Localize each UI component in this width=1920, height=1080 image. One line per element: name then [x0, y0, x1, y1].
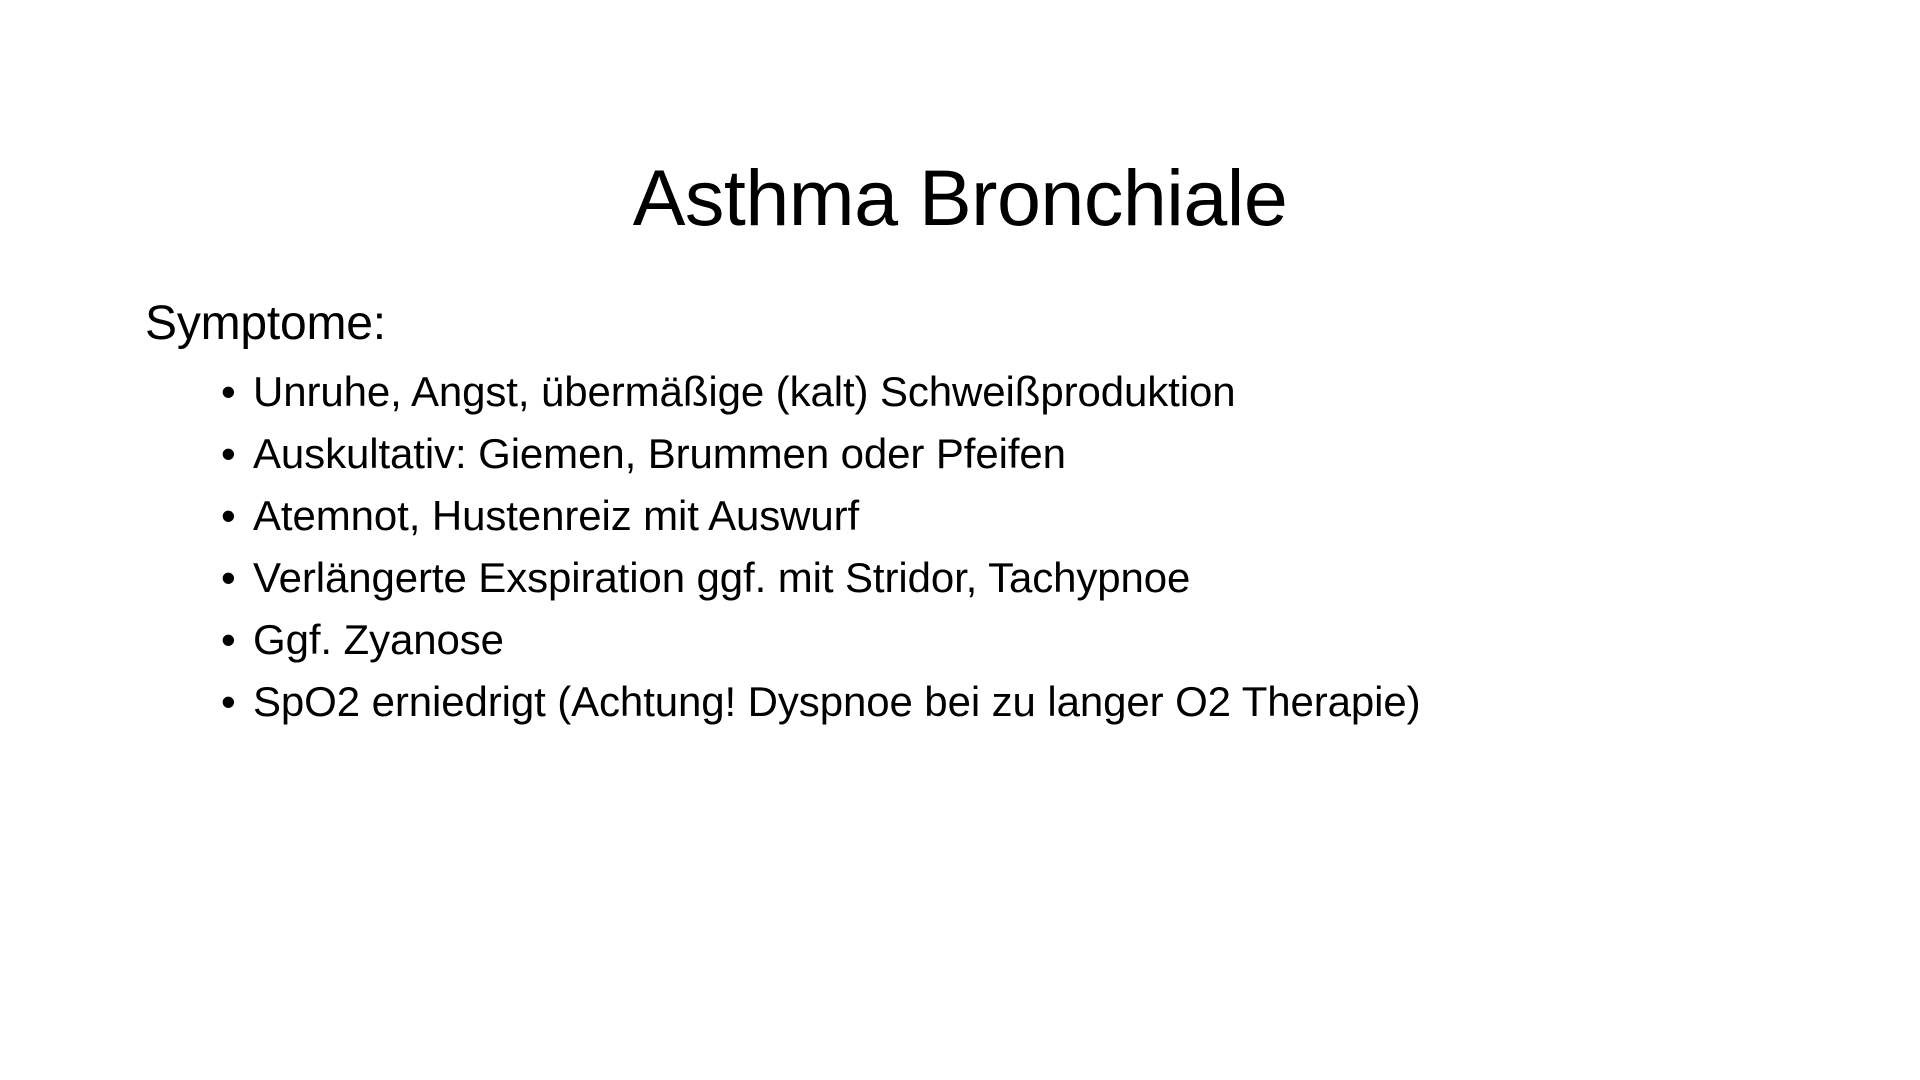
list-item-label: Atemnot, Hustenreiz mit Auswurf: [253, 492, 859, 539]
bullet-point-icon: •: [221, 547, 241, 609]
list-item-label: Ggf. Zyanose: [253, 616, 504, 663]
slide-body: Symptome: • Unruhe, Angst, übermäßige (k…: [145, 295, 1825, 733]
slide-canvas: Asthma Bronchiale Symptome: • Unruhe, An…: [0, 0, 1920, 1080]
list-item: • SpO2 erniedrigt (Achtung! Dyspnoe bei …: [145, 671, 1825, 733]
bullet-point-icon: •: [221, 361, 241, 423]
bullet-point-icon: •: [221, 485, 241, 547]
list-item: • Ggf. Zyanose: [145, 609, 1825, 671]
list-item: • Unruhe, Angst, übermäßige (kalt) Schwe…: [145, 361, 1825, 423]
page-title: Asthma Bronchiale: [0, 157, 1920, 240]
list-item-label: SpO2 erniedrigt (Achtung! Dyspnoe bei zu…: [253, 678, 1421, 725]
list-item: • Verlängerte Exspiration ggf. mit Strid…: [145, 547, 1825, 609]
list-item-label: Verlängerte Exspiration ggf. mit Stridor…: [253, 554, 1190, 601]
bullet-point-icon: •: [221, 671, 241, 733]
list-item-label: Unruhe, Angst, übermäßige (kalt) Schweiß…: [253, 368, 1235, 415]
list-item: • Atemnot, Hustenreiz mit Auswurf: [145, 485, 1825, 547]
bullet-point-icon: •: [221, 609, 241, 671]
list-item: • Auskultativ: Giemen, Brummen oder Pfei…: [145, 423, 1825, 485]
symptom-bullet-list: • Unruhe, Angst, übermäßige (kalt) Schwe…: [145, 361, 1825, 733]
bullet-point-icon: •: [221, 423, 241, 485]
list-item-label: Auskultativ: Giemen, Brummen oder Pfeife…: [253, 430, 1066, 477]
section-heading-symptome: Symptome:: [145, 295, 1825, 353]
